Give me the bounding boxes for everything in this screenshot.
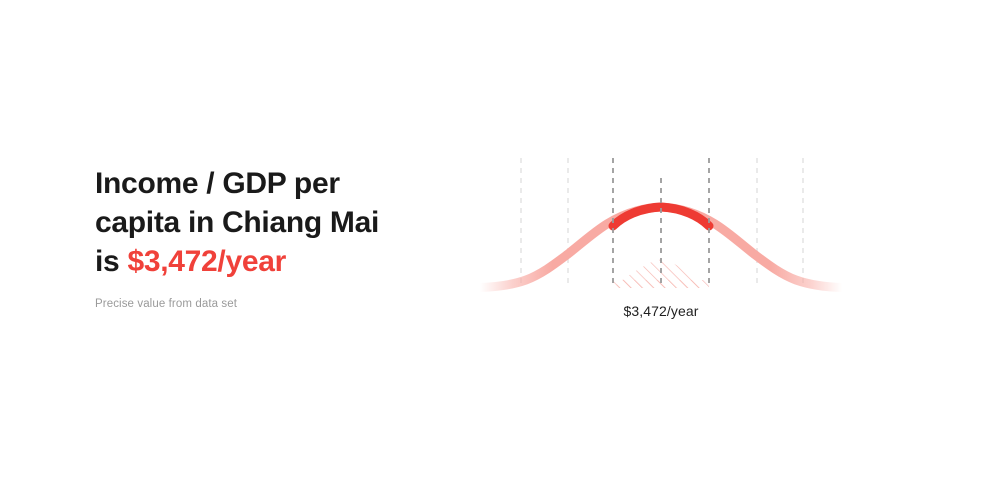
headline-line-1: Income / GDP per [95, 167, 340, 200]
headline-value: $3,472/year [127, 245, 286, 278]
page-title: Income / GDP per capita in Chiang Mai is… [95, 164, 435, 281]
subtitle: Precise value from data set [95, 281, 435, 312]
chart-center-label: $3,472/year [460, 302, 860, 320]
text-block: Income / GDP per capita in Chiang Mai is… [95, 164, 435, 312]
chart-center-label-text: $3,472/year [623, 302, 698, 320]
headline-line-3-prefix: is [95, 245, 127, 278]
headline-line-2: capita in Chiang Mai [95, 206, 379, 239]
bell-curve-chart: $3,472/year [460, 140, 860, 340]
infographic-canvas: Income / GDP per capita in Chiang Mai is… [0, 0, 1000, 491]
gridlines-dark [613, 158, 709, 288]
